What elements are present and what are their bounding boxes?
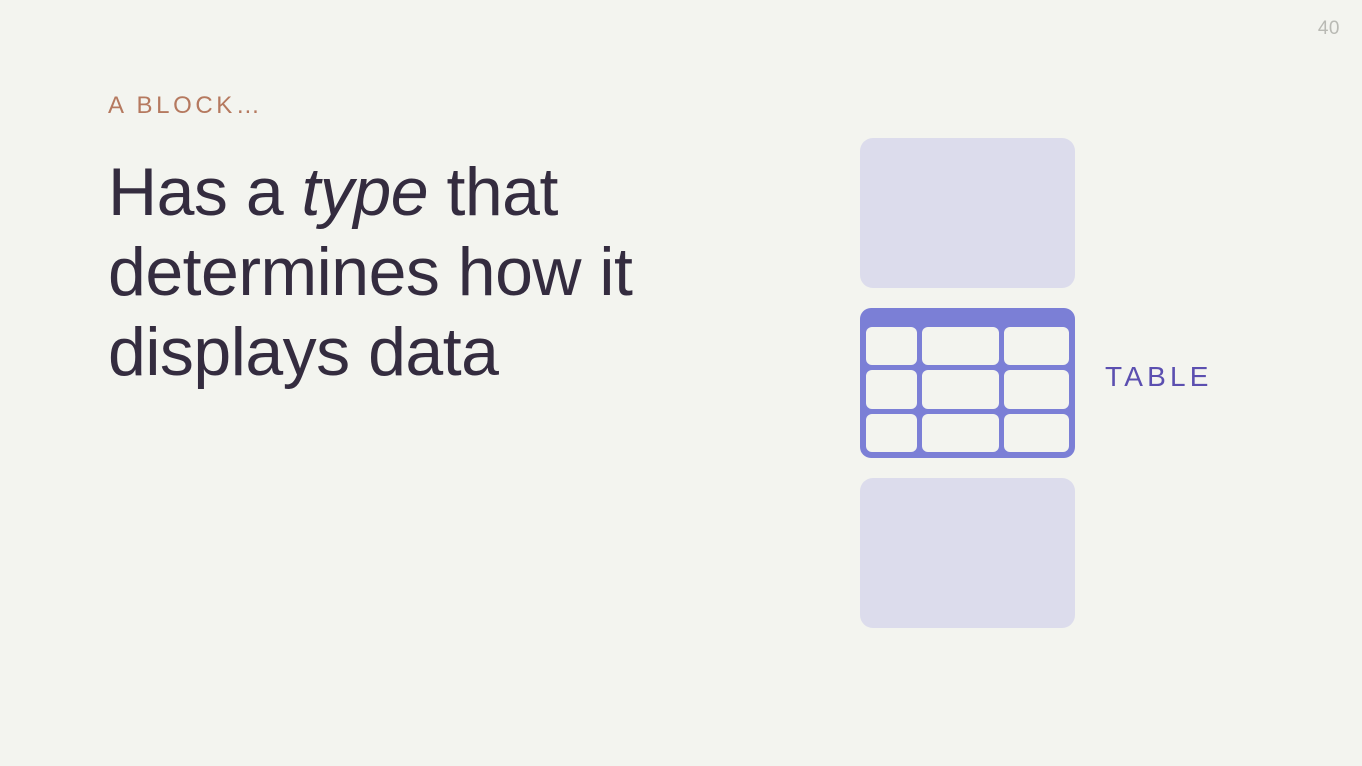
eyebrow-label: A BLOCK…	[108, 94, 748, 118]
table-cell	[1004, 327, 1069, 365]
diagram-column: TABLE	[860, 138, 1280, 638]
table-cell	[1004, 370, 1069, 408]
table-icon	[860, 308, 1075, 458]
table-cell	[866, 327, 917, 365]
table-cell	[922, 327, 999, 365]
headline-part-1: Has a	[108, 154, 302, 230]
page-number: 40	[1318, 18, 1340, 40]
table-row	[866, 327, 1069, 365]
table-cell	[866, 414, 917, 452]
table-cell	[1004, 414, 1069, 452]
table-row	[866, 370, 1069, 408]
placeholder-block-bottom	[860, 478, 1075, 628]
placeholder-block-top	[860, 138, 1075, 288]
table-type-label: TABLE	[1105, 363, 1213, 391]
table-cell	[922, 414, 999, 452]
text-column: A BLOCK… Has a type that determines how …	[108, 94, 748, 393]
table-cell	[866, 370, 917, 408]
page-title: Has a type that determines how it displa…	[108, 152, 748, 393]
table-row	[866, 414, 1069, 452]
slide: 40 A BLOCK… Has a type that determines h…	[0, 0, 1362, 766]
table-cell	[922, 370, 999, 408]
headline-emphasis: type	[302, 154, 429, 230]
